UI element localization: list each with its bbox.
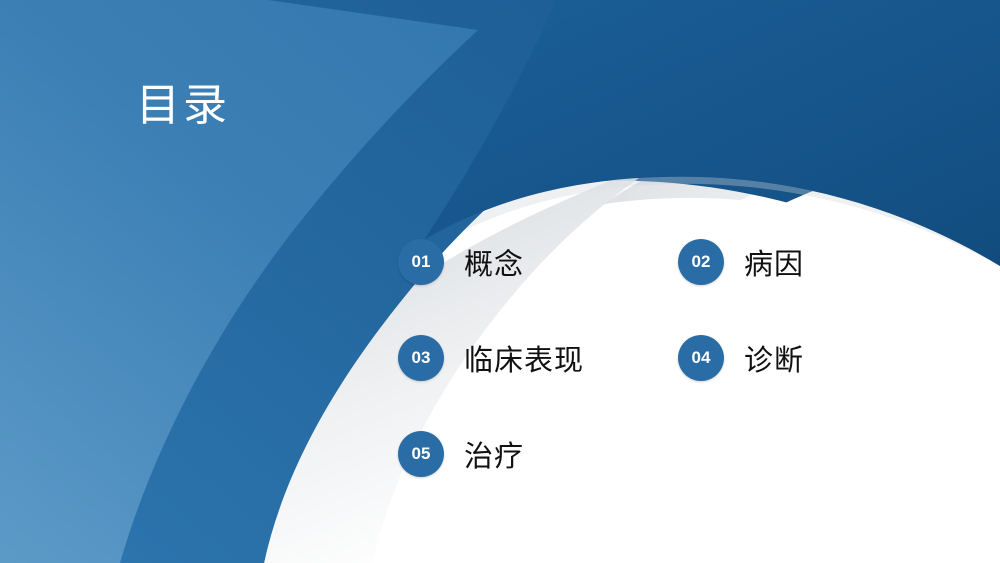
toc-item-03[interactable]: 03 临床表现 xyxy=(398,334,678,382)
toc-number-badge: 03 xyxy=(398,335,444,381)
toc-item-05[interactable]: 05 治疗 xyxy=(398,430,678,478)
table-of-contents: 01 概念 02 病因 03 临床表现 04 诊断 05 治疗 xyxy=(398,238,938,478)
toc-item-label: 治疗 xyxy=(464,433,524,475)
toc-item-02[interactable]: 02 病因 xyxy=(678,238,938,286)
toc-item-label: 病因 xyxy=(744,241,804,283)
toc-item-label: 临床表现 xyxy=(464,337,584,379)
page-title: 目录 xyxy=(136,84,230,128)
toc-item-label: 概念 xyxy=(464,241,524,283)
presentation-slide: 目录 01 概念 02 病因 03 临床表现 04 诊断 05 治疗 xyxy=(0,0,1000,563)
toc-number-badge: 01 xyxy=(398,239,444,285)
toc-number-badge: 02 xyxy=(678,239,724,285)
toc-item-label: 诊断 xyxy=(744,337,804,379)
toc-number-badge: 04 xyxy=(678,335,724,381)
toc-item-01[interactable]: 01 概念 xyxy=(398,238,678,286)
toc-item-placeholder xyxy=(678,430,938,478)
toc-number-badge: 05 xyxy=(398,431,444,477)
toc-item-04[interactable]: 04 诊断 xyxy=(678,334,938,382)
